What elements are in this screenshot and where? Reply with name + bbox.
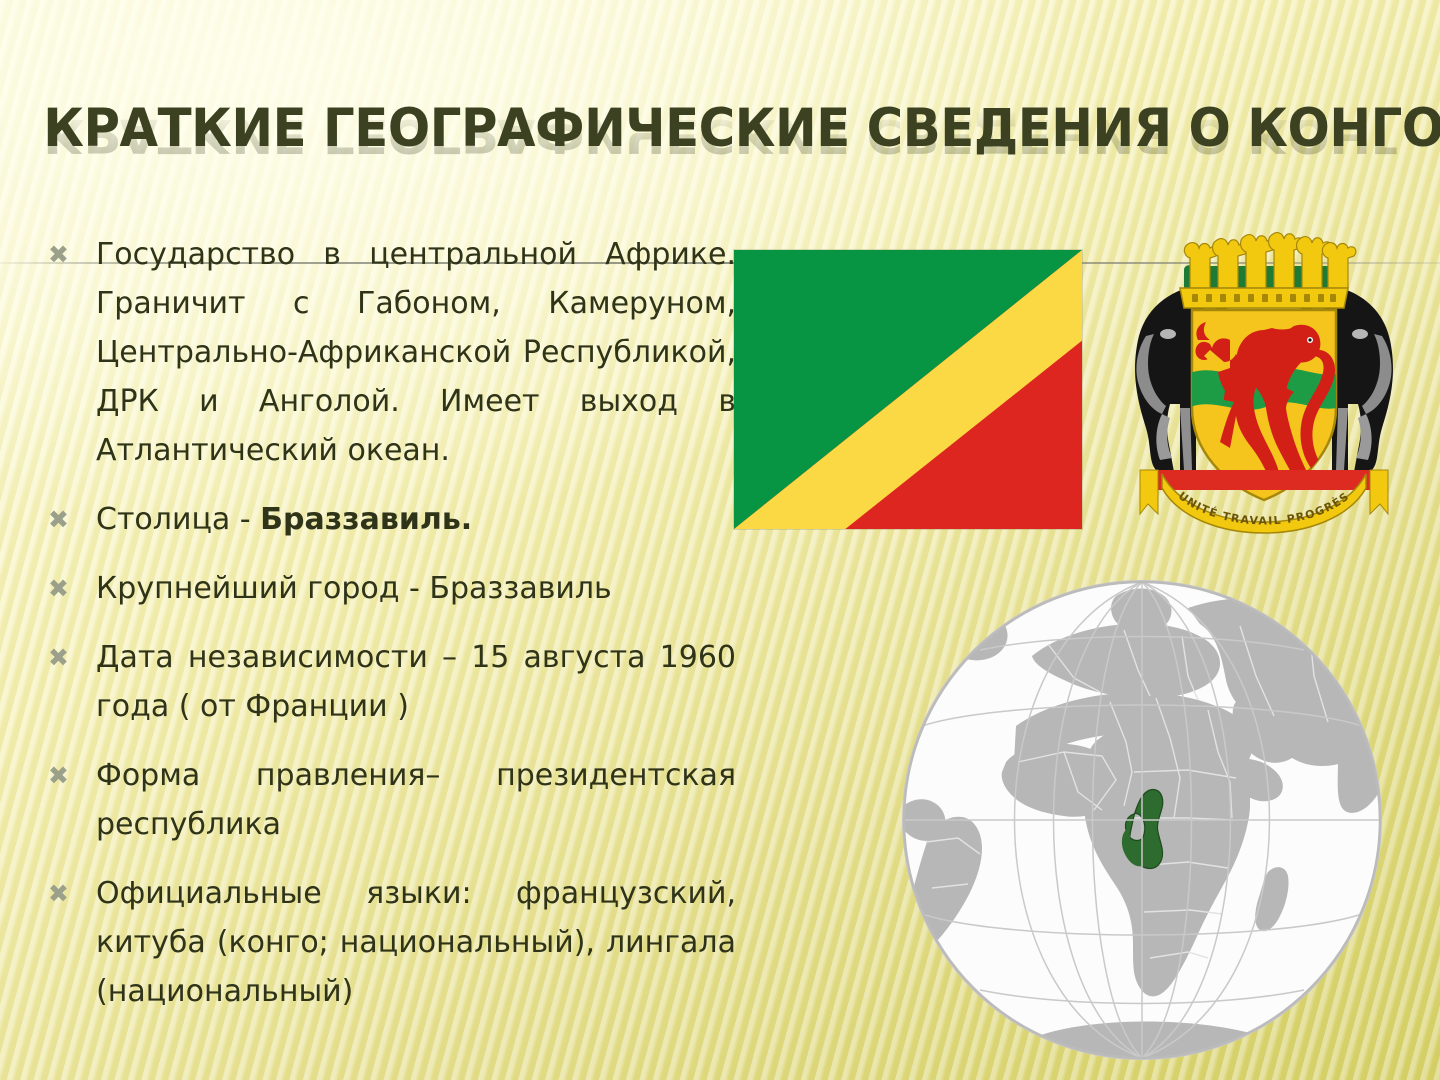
list-item: ✖ Крупнейший город - Браззавиль: [36, 564, 736, 613]
list-item: ✖ Государство в центральной Африке. Гран…: [36, 230, 736, 475]
bullet-x-icon: ✖: [36, 230, 96, 279]
bullet-text-government-form: Форма правления– президентская республик…: [96, 751, 736, 849]
list-item: ✖ Форма правления– президентская республ…: [36, 751, 736, 849]
bullet-x-icon: ✖: [36, 751, 96, 800]
flag-svg: [734, 250, 1082, 529]
list-item: ✖ Официальные языки: французский, китуба…: [36, 869, 736, 1016]
flag-image: [734, 250, 1082, 529]
slide-canvas: КРАТКИЕ ГЕОГРАФИЧЕСКИЕ СВЕДЕНИЯ О КОНГО …: [0, 0, 1440, 1080]
coat-of-arms-image: UNITÉ TRAVAIL PROGRÈS: [1118, 222, 1410, 544]
bullet-text-capital: Столица - Браззавиль.: [96, 495, 736, 544]
bullet-x-icon: ✖: [36, 869, 96, 918]
coat-of-arms-svg: UNITÉ TRAVAIL PROGRÈS: [1118, 222, 1410, 544]
bullet-list: ✖ Государство в центральной Африке. Гран…: [36, 230, 736, 1036]
globe-locator-image: [888, 566, 1396, 1074]
motto-ribbon: UNITÉ TRAVAIL PROGRÈS: [1140, 470, 1388, 533]
page-title: КРАТКИЕ ГЕОГРАФИЧЕСКИЕ СВЕДЕНИЯ О КОНГО: [43, 96, 1397, 162]
bullet-text-independence-date: Дата независимости – 15 августа 1960 год…: [96, 633, 736, 731]
bullet-x-icon: ✖: [36, 495, 96, 544]
list-item: ✖ Столица - Браззавиль.: [36, 495, 736, 544]
bullet-x-icon: ✖: [36, 564, 96, 613]
bullet-text-largest-city: Крупнейший город - Браззавиль: [96, 564, 736, 613]
capital-value: Браззавиль.: [260, 502, 472, 537]
bullet-x-icon: ✖: [36, 633, 96, 682]
bullet-text-official-languages: Официальные языки: французский, китуба (…: [96, 869, 736, 1016]
capital-label: Столица -: [96, 502, 260, 537]
list-item: ✖ Дата независимости – 15 августа 1960 г…: [36, 633, 736, 731]
bullet-text-location: Государство в центральной Африке. Гранич…: [96, 230, 736, 475]
slide-title-block: КРАТКИЕ ГЕОГРАФИЧЕСКИЕ СВЕДЕНИЯ О КОНГО …: [0, 96, 1440, 206]
crown-icon: [1180, 233, 1356, 308]
globe-svg: [888, 566, 1396, 1074]
